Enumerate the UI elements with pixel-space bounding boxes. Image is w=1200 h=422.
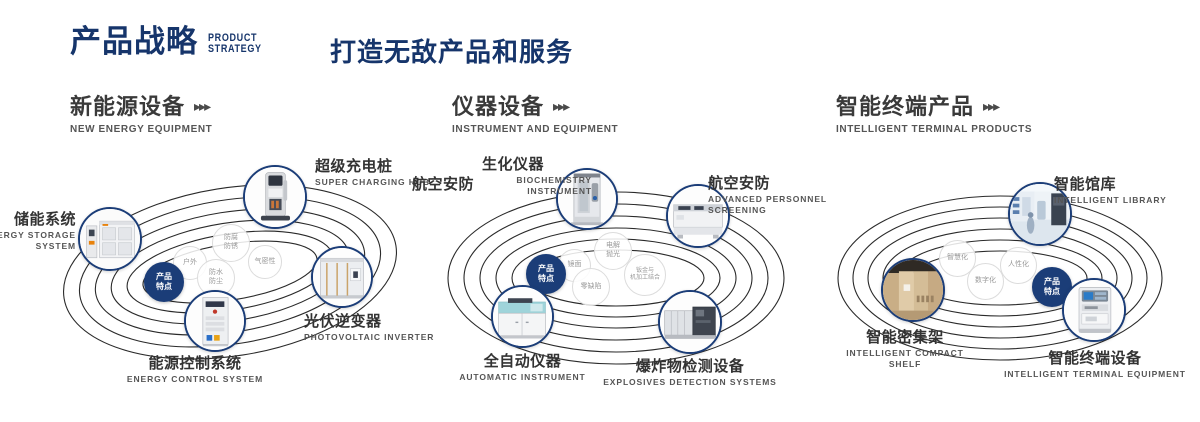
node-caption-explosives-detection-systems: 爆炸物检测设备 EXPLOSIVES DETECTION SYSTEMS — [590, 358, 790, 388]
node-intelligent-compact-shelf[interactable] — [881, 258, 945, 322]
intelligent-terminal-photo — [1064, 280, 1124, 340]
node-caption-cn: 爆炸物检测设备 — [590, 358, 790, 375]
feature-bubble-label: 零缺陷 — [581, 283, 602, 292]
feature-bubble: 零缺陷 — [572, 268, 610, 306]
page-slogan: 打造无敌产品和服务 — [330, 32, 573, 69]
cluster-new-energy: 户外 防腐 防锈 防水 防尘 气密性 产品 特点 储能系统 ENERGY S — [40, 150, 420, 395]
page-title-block: 产品战略 PRODUCT STRATEGY — [70, 26, 273, 57]
page-title-english: PRODUCT STRATEGY — [208, 33, 262, 56]
cluster-instrument: 镜面 电解 抛光 零缺陷 钣金与 机加工结合 产品 特点 航空安防 生化仪器 — [420, 150, 810, 395]
section-heading-label: 新能源设备 — [70, 95, 185, 119]
page-title-english-line2: STRATEGY — [208, 44, 262, 56]
pv-inverter-photo — [313, 248, 371, 306]
node-caption-energy-control-system: 能源控制系统 ENERGY CONTROL SYSTEM — [75, 355, 315, 385]
feature-bubble-label: 人性化 — [1008, 261, 1029, 270]
node-caption-aviation-security-left: 航空安防 — [412, 176, 492, 193]
product-strategy-infographic: 产品战略 PRODUCT STRATEGY 打造无敌产品和服务 新能源设备 ▸▸… — [0, 0, 1200, 422]
chevron-right-icon: ▸▸▸ — [553, 99, 568, 114]
node-explosives-detection-systems[interactable] — [658, 290, 722, 354]
energy-control-photo — [186, 292, 244, 350]
node-caption-en: BIOCHEMISTRY INSTRUMENT — [482, 175, 592, 197]
node-super-charging-hub[interactable] — [243, 165, 307, 229]
node-caption-en: ENERGY STORAGE SYSTEM — [0, 230, 76, 252]
feature-bubble-label: 防腐 防锈 — [224, 234, 238, 252]
section-heading-en: INTELLIGENT TERMINAL PRODUCTS — [836, 124, 1032, 135]
feature-bubble-label: 钣金与 机加工结合 — [630, 268, 660, 283]
charging-hub-photo — [245, 167, 305, 227]
section-heading-label: 智能终端产品 — [836, 95, 974, 119]
feature-bubble: 防腐 防锈 — [212, 224, 250, 262]
feature-bubble-label: 镜面 — [568, 261, 582, 270]
section-heading-cn: 仪器设备 ▸▸▸ — [452, 95, 618, 119]
intelligent-compact-shelf-photo — [883, 260, 943, 320]
node-photovoltaic-inverter[interactable] — [311, 246, 373, 308]
feature-bubble-main: 产品 特点 — [144, 262, 184, 302]
node-caption-en: INTELLIGENT TERMINAL EQUIPMENT — [995, 369, 1195, 380]
node-caption-cn: 能源控制系统 — [75, 355, 315, 372]
chevron-right-icon: ▸▸▸ — [983, 99, 998, 114]
feature-bubble: 人性化 — [1000, 247, 1037, 284]
page-title-english-line1: PRODUCT — [208, 33, 262, 45]
cluster-intelligent-terminal: 智慧化 数字化 人性化 产品 特点 智能馆库 I — [810, 150, 1200, 395]
node-caption-cn: 智能密集架 — [800, 329, 1010, 346]
feature-bubble-label: 户外 — [183, 259, 197, 268]
node-caption-intelligent-library: 智能馆库 INTELLIGENT LIBRARY — [1054, 176, 1194, 206]
node-caption-cn: 智能终端设备 — [995, 350, 1195, 367]
section-heading-en: INSTRUMENT AND EQUIPMENT — [452, 124, 618, 135]
chevron-right-icon: ▸▸▸ — [194, 99, 209, 114]
feature-bubble-label: 产品 特点 — [538, 264, 554, 284]
node-intelligent-terminal-equipment[interactable] — [1062, 278, 1126, 342]
feature-bubble-label: 电解 抛光 — [606, 242, 620, 260]
feature-bubble-label: 产品 特点 — [156, 272, 172, 292]
section-heading-new-energy: 新能源设备 ▸▸▸ NEW ENERGY EQUIPMENT — [70, 95, 212, 135]
node-caption-intelligent-compact-shelf: 智能密集架 INTELLIGENT COMPACT SHELF — [800, 329, 1010, 370]
feature-bubble-label: 数字化 — [975, 277, 996, 286]
node-caption-intelligent-terminal-equipment: 智能终端设备 INTELLIGENT TERMINAL EQUIPMENT — [995, 350, 1195, 380]
node-caption-cn: 储能系统 — [0, 211, 76, 228]
section-heading-cn: 智能终端产品 ▸▸▸ — [836, 95, 1032, 119]
feature-bubble: 数字化 — [967, 263, 1004, 300]
section-heading-en: NEW ENERGY EQUIPMENT — [70, 124, 212, 135]
feature-bubble-label: 智慧化 — [947, 254, 968, 263]
node-caption-biochemistry-instrument: 生化仪器 BIOCHEMISTRY INSTRUMENT — [482, 156, 592, 197]
node-caption-cn: 智能馆库 — [1054, 176, 1194, 193]
node-caption-en: INTELLIGENT LIBRARY — [1054, 195, 1194, 206]
node-energy-storage-system[interactable] — [78, 207, 142, 271]
page-title: 产品战略 — [70, 26, 198, 57]
node-caption-en: ENERGY CONTROL SYSTEM — [75, 374, 315, 385]
feature-bubble-label: 产品 特点 — [1044, 277, 1060, 297]
energy-storage-photo — [80, 209, 140, 269]
explosives-detection-photo — [660, 292, 720, 352]
section-heading-cn: 新能源设备 ▸▸▸ — [70, 95, 212, 119]
node-caption-cn: 航空安防 — [412, 176, 492, 193]
section-heading-label: 仪器设备 — [452, 95, 544, 119]
feature-bubble-label: 气密性 — [255, 258, 276, 267]
section-heading-intelligent-terminal: 智能终端产品 ▸▸▸ INTELLIGENT TERMINAL PRODUCTS — [836, 95, 1032, 135]
node-automatic-instrument[interactable] — [491, 285, 554, 348]
node-caption-en: EXPLOSIVES DETECTION SYSTEMS — [590, 377, 790, 388]
node-energy-control-system[interactable] — [184, 290, 246, 352]
feature-bubble: 气密性 — [248, 245, 282, 279]
node-caption-en: INTELLIGENT COMPACT SHELF — [800, 348, 1010, 370]
node-caption-cn: 生化仪器 — [482, 156, 592, 173]
feature-bubble: 钣金与 机加工结合 — [624, 254, 666, 296]
feature-bubble-label: 防水 防尘 — [209, 269, 223, 287]
section-heading-instrument: 仪器设备 ▸▸▸ INSTRUMENT AND EQUIPMENT — [452, 95, 618, 135]
automatic-instrument-photo — [493, 287, 552, 346]
node-caption-energy-storage-system: 储能系统 ENERGY STORAGE SYSTEM — [0, 211, 76, 252]
